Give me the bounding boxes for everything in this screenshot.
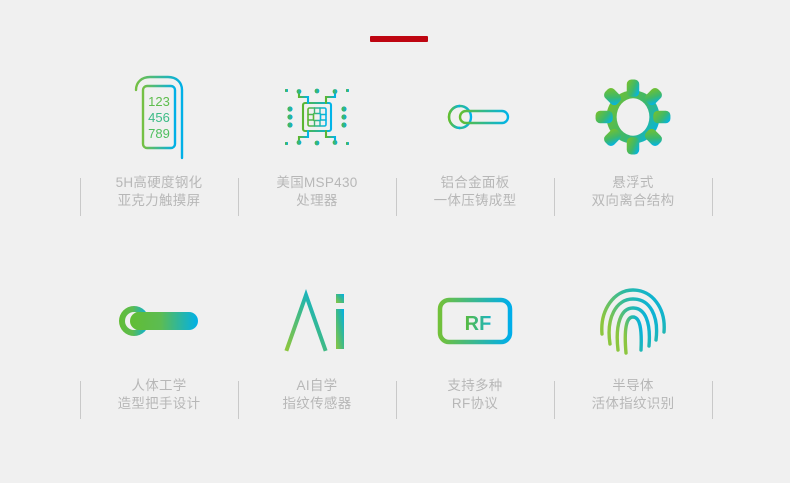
feature-caption: AI自学 指纹传感器 [283,377,352,413]
feature-row-2: 人体工学 造型把手设计 [0,281,790,413]
ai-lettermark-icon [267,281,367,361]
feature-caption: 美国MSP430 处理器 [276,174,357,210]
feature-caption-line2: 造型把手设计 [118,395,201,413]
feature-caption-line2: 活体指纹识别 [592,395,675,413]
microchip-processor-icon [267,74,367,160]
feature-caption-line2: 双向离合结构 [592,192,675,210]
feature-caption-line1: 美国MSP430 [276,174,357,192]
door-lever-handle-outline-icon [425,74,525,160]
feature-caption-line2: 亚克力触摸屏 [116,192,203,210]
rf-badge-label: RF [465,313,492,335]
keypad-row-2: 456 [148,110,170,125]
feature-caption-line1: 悬浮式 [592,174,675,192]
feature-caption-line1: 半导体 [592,377,675,395]
feature-caption: 半导体 活体指纹识别 [592,377,675,413]
feature-item-ai-learning[interactable]: AI自学 指纹传感器 [238,281,396,413]
feature-caption-line2: RF协议 [447,395,502,413]
feature-caption-line1: 5H高硬度钢化 [116,174,203,192]
feature-item-fingerprint[interactable]: 半导体 活体指纹识别 [554,281,712,413]
feature-caption: 悬浮式 双向离合结构 [592,174,675,210]
keypad-row-3: 789 [148,126,170,141]
feature-caption: 5H高硬度钢化 亚克力触摸屏 [116,174,203,210]
column-divider [80,381,81,419]
feature-caption: 人体工学 造型把手设计 [118,377,201,413]
column-divider [80,178,81,216]
feature-caption-line2: 一体压铸成型 [434,192,517,210]
feature-item-touchscreen[interactable]: 123 456 789 5H高硬度钢化 亚克力触摸屏 [80,74,238,210]
feature-caption-line1: 铝合金面板 [434,174,517,192]
feature-caption: 铝合金面板 一体压铸成型 [434,174,517,210]
feature-caption-line2: 处理器 [276,192,357,210]
feature-item-aluminum-panel[interactable]: 铝合金面板 一体压铸成型 [396,74,554,210]
feature-row-1: 123 456 789 5H高硬度钢化 亚克力触摸屏 [0,74,790,210]
keypad-row-1: 123 [148,94,170,109]
gear-icon [583,74,683,160]
feature-item-processor[interactable]: 美国MSP430 处理器 [238,74,396,210]
feature-item-rf-protocol[interactable]: RF 支持多种 RF协议 [396,281,554,413]
rf-badge-icon: RF [425,281,525,361]
feature-caption-line1: 支持多种 [447,377,502,395]
feature-item-ergonomic-handle[interactable]: 人体工学 造型把手设计 [80,281,238,413]
section-accent-rule [370,36,428,42]
fingerprint-icon [583,281,683,361]
feature-caption: 支持多种 RF协议 [447,377,502,413]
column-divider [712,178,713,216]
feature-item-clutch[interactable]: 悬浮式 双向离合结构 [554,74,712,210]
feature-highlights-page: 123 456 789 5H高硬度钢化 亚克力触摸屏 [0,0,790,483]
feature-caption-line1: 人体工学 [118,377,201,395]
column-divider [712,381,713,419]
keypad-touchscreen-icon: 123 456 789 [109,74,209,160]
feature-caption-line1: AI自学 [283,377,352,395]
feature-caption-line2: 指纹传感器 [283,395,352,413]
door-lever-handle-solid-icon [109,281,209,361]
